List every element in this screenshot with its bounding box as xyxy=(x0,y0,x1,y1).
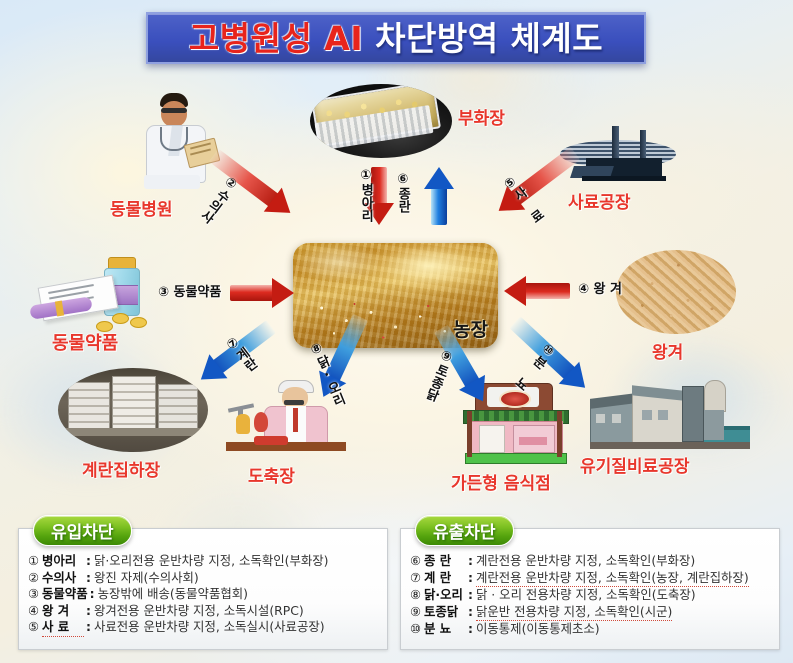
legend-item: ⑩ 분 뇨 : 이동통제(이동통제초소) xyxy=(410,621,772,638)
legend-item-colon: : xyxy=(84,619,94,636)
flow-3-text: 동물약품 xyxy=(174,285,222,300)
legend-item-value: 농장밖에 배송(동물약품협회) xyxy=(98,586,248,603)
legend-item: ⑦ 계 란 : 계란전용 운반차량 지정, 소독확인(농장, 계란집하장) xyxy=(410,570,772,588)
flow-arrow-6 xyxy=(406,167,472,225)
legend-outflow: 유출차단 ⑥ 종 란 : 계란전용 운반차량 지정, 소독확인(부화장) ⑦ 계… xyxy=(400,528,780,650)
legend-item-colon: : xyxy=(466,553,476,570)
legend-item: ⑤ 사 료 : 사료전용 운반차량 지정, 소독실시(사료공장) xyxy=(28,619,380,637)
hatchery-node: 부화장 xyxy=(310,84,490,160)
legend-item-num: ⑤ xyxy=(28,619,42,636)
legend-outflow-items: ⑥ 종 란 : 계란전용 운반차량 지정, 소독확인(부화장) ⑦ 계 란 : … xyxy=(410,553,772,638)
flow-label-3: ③ 동물약품 xyxy=(158,286,221,299)
flow-6-num: ⑥ xyxy=(395,172,410,187)
legend-item-key: 동물약품 xyxy=(42,586,88,603)
hatchery-label: 부화장 xyxy=(458,104,505,129)
animal-medicine-node: 동물약품 xyxy=(20,255,180,360)
legend-outflow-title: 유출차단 xyxy=(433,518,496,543)
legend-item-num: ⑧ xyxy=(410,587,424,604)
legend-item-num: ⑩ xyxy=(410,621,424,638)
hatchery-icon xyxy=(310,84,452,158)
infographic-root: 고병원성 AI 차단방역 체계도 농장 부화장 ①병아리 ⑥종란 xyxy=(0,0,793,663)
title-banner-bg: 고병원성 AI 차단방역 체계도 xyxy=(146,12,646,64)
legend-item-num: ② xyxy=(28,570,42,587)
legend-item-num: ④ xyxy=(28,603,42,620)
flow-1-text: 병아리 xyxy=(358,183,373,222)
legend-item-num: ⑦ xyxy=(410,570,424,587)
legend-item-value: 계란전용 운반차량 지정, 소독확인(부화장) xyxy=(476,553,695,570)
rice-hull-icon xyxy=(616,250,736,334)
legend-item: ⑧ 닭·오리 : 닭 · 오리 전용차량 지정, 소독확인(도축장) xyxy=(410,587,772,604)
legend-item-value: 계란전용 운반차량 지정, 소독확인(농장, 계란집하장) xyxy=(476,570,749,588)
legend-item-colon: : xyxy=(466,621,476,638)
legend-inflow-items: ① 병아리 : 닭·오리전용 운반차량 지정, 소독확인(부화장) ② 수의사 … xyxy=(28,553,380,637)
legend-item-key: 수의사 xyxy=(42,570,84,587)
legend-item-num: ⑥ xyxy=(410,553,424,570)
slaughterhouse-node: 도축장 xyxy=(208,378,378,488)
flow-arrow-3 xyxy=(230,276,294,310)
legend-item-key: 사 료 xyxy=(42,619,84,637)
egg-depot-label: 계란집하장 xyxy=(82,456,160,481)
legend-item-value: 왕진 자제(수의사회) xyxy=(94,570,199,587)
legend-item-colon: : xyxy=(84,603,94,620)
veterinarian-icon xyxy=(130,93,220,189)
legend-item-key: 종 란 xyxy=(424,553,466,570)
title-red-part: 고병원성 AI xyxy=(189,19,363,58)
legend-item: ② 수의사 : 왕진 자제(수의사회) xyxy=(28,570,380,587)
flow-1-num: ① xyxy=(358,168,373,183)
flow-3-num: ③ xyxy=(158,285,169,300)
legend-item-colon: : xyxy=(84,553,94,570)
legend-item-key: 닭·오리 xyxy=(424,587,466,604)
rice-hull-label: 왕겨 xyxy=(652,338,683,363)
rice-hull-node: 왕겨 xyxy=(616,250,776,360)
egg-depot-icon xyxy=(58,368,208,452)
legend-item-num: ③ xyxy=(28,586,42,603)
legend-item-value: 닭·오리전용 운반차량 지정, 소독확인(부화장) xyxy=(94,553,329,570)
legend-inflow-header: 유입차단 xyxy=(33,515,132,546)
legend-item: ⑥ 종 란 : 계란전용 운반차량 지정, 소독확인(부화장) xyxy=(410,553,772,570)
legend-item-key: 토종닭 xyxy=(424,604,466,621)
medicine-icon xyxy=(26,255,166,333)
legend-item-colon: : xyxy=(466,587,476,604)
animal-hospital-label: 동물병원 xyxy=(110,195,173,220)
legend-inflow: 유입차단 ① 병아리 : 닭·오리전용 운반차량 지정, 소독확인(부화장) ②… xyxy=(18,528,388,650)
fertilizer-plant-node: 유기질비료공장 xyxy=(580,380,780,490)
legend-item: ④ 왕 겨 : 왕겨전용 운반차량 지정, 소독시설(RPC) xyxy=(28,603,380,620)
legend-item-colon: : xyxy=(466,570,476,587)
legend-item-key: 병아리 xyxy=(42,553,84,570)
flow-label-4: ④ 왕 겨 xyxy=(578,283,622,296)
flow-arrow-4 xyxy=(504,274,570,308)
legend-item: ③ 동물약품 : 농장밖에 배송(동물약품협회) xyxy=(28,586,380,603)
legend-item: ① 병아리 : 닭·오리전용 운반차량 지정, 소독확인(부화장) xyxy=(28,553,380,570)
flow-label-1: ①병아리 xyxy=(359,168,372,222)
title-banner: 고병원성 AI 차단방역 체계도 xyxy=(146,12,646,64)
farm-node: 농장 xyxy=(293,243,498,348)
fertilizer-plant-label: 유기질비료공장 xyxy=(580,452,689,477)
feed-factory-label: 사료공장 xyxy=(568,188,631,213)
legend-item-colon: : xyxy=(466,604,476,621)
legend-item-num: ⑨ xyxy=(410,604,424,621)
legend-item-value: 닭 · 오리 전용차량 지정, 소독확인(도축장) xyxy=(476,587,696,604)
legend-item-value: 닭운반 전용차량 지정, 소독확인(시군) xyxy=(476,604,672,622)
page-title: 고병원성 AI 차단방역 체계도 xyxy=(189,22,603,55)
legend-outflow-header: 유출차단 xyxy=(415,515,514,546)
flow-6-text: 종란 xyxy=(395,187,410,213)
slaughterhouse-label: 도축장 xyxy=(248,462,295,487)
legend-inflow-title: 유입차단 xyxy=(51,518,114,543)
flow-label-6: ⑥종란 xyxy=(396,172,409,213)
fertilizer-plant-icon xyxy=(590,380,750,452)
legend-item-num: ① xyxy=(28,553,42,570)
legend-item-key: 왕 겨 xyxy=(42,603,84,620)
legend-item-value: 이동통제(이동통제초소) xyxy=(476,621,600,638)
legend-item-value: 사료전용 운반차량 지정, 소독실시(사료공장) xyxy=(94,619,325,636)
flow-4-text: 왕 겨 xyxy=(594,282,622,297)
legend-item-key: 계 란 xyxy=(424,570,466,587)
title-white-part: 차단방역 체계도 xyxy=(375,19,603,58)
legend-item-colon: : xyxy=(84,570,94,587)
legend-item-key: 분 뇨 xyxy=(424,621,466,638)
flow-4-num: ④ xyxy=(578,282,589,297)
animal-medicine-label: 동물약품 xyxy=(52,329,118,355)
legend-item-value: 왕겨전용 운반차량 지정, 소독시설(RPC) xyxy=(94,603,304,620)
garden-restaurant-label: 가든형 음식점 xyxy=(451,469,551,494)
legend-item: ⑨ 토종닭 : 닭운반 전용차량 지정, 소독확인(시군) xyxy=(410,604,772,622)
legend-item-colon: : xyxy=(88,586,98,603)
